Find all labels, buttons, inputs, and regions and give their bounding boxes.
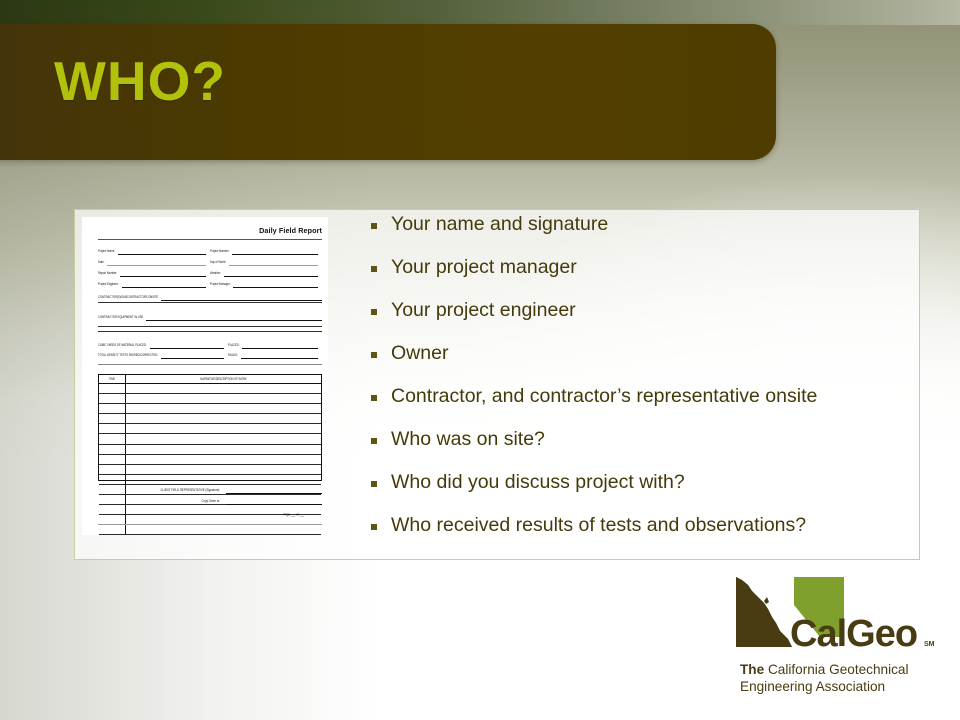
form-field-line[interactable] [242, 348, 318, 349]
logo-wordmark: CalGeo [790, 615, 917, 653]
list-item[interactable]: Who received results of tests and observ… [371, 514, 911, 557]
form-table: TIME NARRATIVE/DESCRIPTION OF WORK [98, 374, 322, 481]
table-row[interactable] [99, 445, 321, 455]
list-item[interactable]: Who did you discuss project with? [371, 471, 911, 514]
table-row[interactable] [99, 424, 321, 434]
list-item[interactable]: Your project manager [371, 256, 911, 299]
form-table-header: TIME NARRATIVE/DESCRIPTION OF WORK [99, 375, 321, 384]
list-item-label: Who was on site? [391, 428, 911, 449]
form-field-row: Report Number: Weather: [98, 267, 322, 278]
bullet-square-icon [371, 223, 377, 229]
page-title: WHO? [54, 54, 226, 109]
form-rule [98, 364, 322, 365]
form-wide-field-0: CONTRACTOR(S)/SUBCONTRACTORS ONSITE [98, 292, 322, 303]
form-rule [98, 331, 322, 332]
form-field-line[interactable] [229, 265, 318, 266]
logo-tagline-line2: Engineering Association [740, 679, 885, 694]
form-field-line[interactable] [150, 348, 224, 349]
form-field-line[interactable] [224, 276, 318, 277]
bullet-square-icon [371, 438, 377, 444]
table-row[interactable] [99, 525, 321, 535]
form-field-grid: Project Name: Project Number: Date: Day … [98, 245, 322, 289]
table-cell-narrative[interactable] [126, 394, 321, 403]
table-cell-time[interactable] [99, 525, 126, 534]
table-cell-time[interactable] [99, 455, 126, 464]
bullet-square-icon [371, 309, 377, 315]
form-field-label: Project Engineer: [98, 282, 119, 289]
table-cell-time[interactable] [99, 445, 126, 454]
list-item[interactable]: Who was on site? [371, 428, 911, 471]
bullet-square-icon [371, 266, 377, 272]
bullet-square-icon [371, 352, 377, 358]
table-row[interactable] [99, 455, 321, 465]
table-row[interactable] [99, 414, 321, 424]
table-cell-time[interactable] [99, 424, 126, 433]
table-cell-narrative[interactable] [126, 404, 321, 413]
form-field-row: Project Name: Project Number: [98, 245, 322, 256]
form-field-line[interactable] [161, 300, 322, 301]
form-rule [98, 326, 322, 327]
table-cell-time[interactable] [99, 394, 126, 403]
list-item-label: Your name and signature [391, 213, 911, 234]
form-field-line[interactable] [146, 320, 322, 321]
list-item-label: Your project manager [391, 256, 911, 277]
form-field-label: Project Name: [98, 249, 115, 256]
form-field-label: Project Manager: [210, 282, 230, 289]
table-row[interactable] [99, 465, 321, 475]
list-item[interactable]: Your name and signature [371, 213, 911, 256]
bullet-square-icon [371, 481, 377, 487]
list-item[interactable]: Your project engineer [371, 299, 911, 342]
list-item-label: Owner [391, 342, 911, 363]
bullet-square-icon [371, 395, 377, 401]
logo-word-cal: Cal [790, 613, 846, 655]
form-field-line[interactable] [122, 287, 206, 288]
slide: WHO? Daily Field Report Project Name: Pr… [0, 0, 960, 720]
form-field-label: TOTAL DENSITY TESTS PASSED/CORRECTED: [98, 353, 158, 360]
form-field-row: CUBIC YARDS OF MATERIAL PLACED: PLACED: [98, 340, 322, 350]
form-title: Daily Field Report [259, 226, 322, 235]
list-item-label: Your project engineer [391, 299, 911, 320]
form-field-line[interactable] [233, 287, 318, 288]
form-field-line[interactable] [226, 504, 322, 505]
table-cell-narrative[interactable] [126, 424, 321, 433]
form-field-line[interactable] [241, 358, 318, 359]
table-cell-time[interactable] [99, 465, 126, 474]
top-accent-strip [0, 0, 960, 25]
table-cell-narrative[interactable] [126, 465, 321, 474]
form-field-row: TOTAL DENSITY TESTS PASSED/CORRECTED: FA… [98, 350, 322, 360]
table-cell-narrative[interactable] [126, 414, 321, 423]
form-field-label: Date: [98, 260, 104, 267]
form-title-rule [98, 239, 322, 240]
table-cell-narrative[interactable] [126, 525, 321, 534]
form-field-label: CLIENT FIELD REPRESENTATIVE (Signature): [160, 487, 220, 495]
list-item-label: Who did you discuss project with? [391, 471, 911, 492]
daily-field-report-image[interactable]: Daily Field Report Project Name: Project… [82, 217, 328, 535]
table-cell-narrative[interactable] [126, 455, 321, 464]
form-page-row: Page ___ of ___ [98, 506, 322, 517]
list-item-label: Who received results of tests and observ… [391, 514, 911, 535]
form-field-line[interactable] [161, 358, 224, 359]
table-cell-narrative[interactable] [126, 445, 321, 454]
form-field-label: Weather: [210, 271, 221, 278]
logo-tagline-bold: The [740, 662, 764, 677]
logo-tagline-line1: California Geotechnical [764, 662, 908, 677]
form-wide-field-1: CONTRACTOR EQUIPMENT IN USE [98, 312, 322, 332]
form-field-label: Copy Given to: [202, 498, 221, 506]
form-field-label: CONTRACTOR(S)/SUBCONTRACTORS ONSITE [98, 295, 158, 302]
form-field-label: CUBIC YARDS OF MATERIAL PLACED: [98, 343, 147, 350]
table-cell-time[interactable] [99, 384, 126, 393]
table-row[interactable] [99, 384, 321, 394]
table-cell-time[interactable] [99, 414, 126, 423]
table-cell-time[interactable] [99, 404, 126, 413]
form-signature-block: CLIENT FIELD REPRESENTATIVE (Signature):… [98, 484, 322, 517]
calgeo-logo: CalGeo SM The California Geotechnical En… [728, 573, 944, 703]
list-item-label: Contractor, and contractor’s representat… [391, 385, 911, 406]
form-field-label: Day of Week: [210, 260, 226, 267]
table-row[interactable] [99, 394, 321, 404]
form-signature-row: Copy Given to: [98, 495, 322, 506]
form-field-label: FAILED: [228, 353, 238, 360]
table-cell-narrative[interactable] [126, 434, 321, 443]
form-signature-row: CLIENT FIELD REPRESENTATIVE (Signature): [98, 484, 322, 495]
bullet-list: Your name and signature Your project man… [371, 213, 911, 557]
form-field-label: CONTRACTOR EQUIPMENT IN USE [98, 315, 143, 322]
form-field-line[interactable] [107, 265, 206, 266]
list-item[interactable]: Contractor, and contractor’s representat… [371, 385, 911, 428]
table-row[interactable] [99, 404, 321, 414]
table-cell-time[interactable] [99, 475, 126, 484]
form-field-line[interactable] [226, 493, 322, 494]
form-field-row: Project Engineer: Project Manager: [98, 278, 322, 289]
logo-word-geo: Geo [846, 613, 917, 655]
table-row[interactable] [99, 434, 321, 444]
form-field-label: Project Number: [210, 249, 229, 256]
form-table-col-narrative: NARRATIVE/DESCRIPTION OF WORK [200, 377, 246, 381]
form-bottom-rule [98, 524, 322, 525]
table-cell-narrative[interactable] [126, 475, 321, 484]
form-field-label: PLACED: [228, 343, 240, 350]
list-item[interactable]: Owner [371, 342, 911, 385]
form-quantity-fields: CUBIC YARDS OF MATERIAL PLACED: PLACED: … [98, 340, 322, 365]
form-field-line[interactable] [232, 254, 318, 255]
form-field-row: Date: Day of Week: [98, 256, 322, 267]
form-field-line[interactable] [120, 276, 206, 277]
form-table-col-time: TIME [109, 377, 115, 381]
bullet-square-icon [371, 524, 377, 530]
form-field-label: Report Number: [98, 271, 117, 278]
logo-tagline: The California Geotechnical Engineering … [740, 661, 944, 696]
table-cell-narrative[interactable] [126, 384, 321, 393]
form-field-line[interactable] [118, 254, 206, 255]
table-cell-time[interactable] [99, 434, 126, 443]
form-page-number: Page ___ of ___ [283, 512, 304, 517]
logo-service-mark: SM [924, 641, 935, 648]
form-rule [98, 302, 322, 303]
